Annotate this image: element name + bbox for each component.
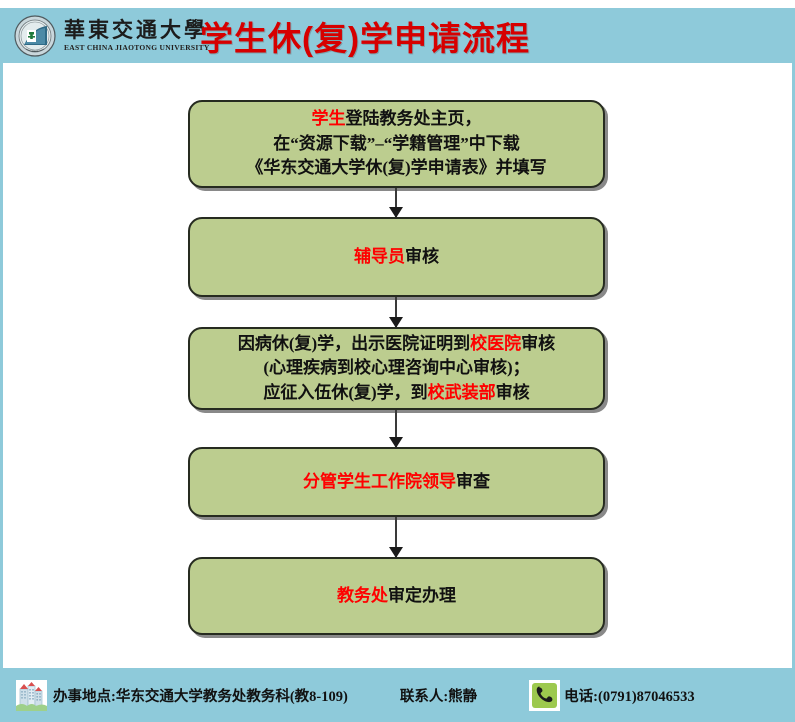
flow-node-2: 辅导员审核 xyxy=(188,217,605,297)
flow-node-4-line-1: 分管学生工作院领导审查 xyxy=(303,470,490,495)
plain-term: 审核 xyxy=(405,247,439,266)
footer-place-group: 办事地点:华东交通大学教务处教务科(教8-109) xyxy=(16,680,348,711)
flow-node-4-text: 分管学生工作院领导审查 xyxy=(295,470,498,495)
flow-node-2-line-1: 辅导员审核 xyxy=(354,245,439,270)
plain-term: 《华东交通大学休(复)学申请表》并填写 xyxy=(246,158,546,177)
flowchart-page: 1971 華東交通大學 EAST CHINA JIAOTONG UNIVERSI… xyxy=(0,0,795,722)
plain-term: 登陆教务处主页， xyxy=(345,109,481,128)
telephone-icon xyxy=(529,680,560,711)
flow-node-5-text: 教务处审定办理 xyxy=(329,584,464,609)
flow-node-1-line-1: 学生登陆教务处主页， xyxy=(246,107,546,132)
flow-node-5: 教务处审定办理 xyxy=(188,557,605,635)
university-logo: 1971 華東交通大學 EAST CHINA JIAOTONG UNIVERSI… xyxy=(14,15,210,57)
flow-node-3-line-1: 因病休(复)学，出示医院证明到校医院审核 xyxy=(238,332,555,357)
highlighted-term: 学生 xyxy=(311,109,345,128)
flow-node-3-line-2: (心理疾病到校心理咨询中心审核)； xyxy=(238,356,555,381)
plain-term: 在“资源下载”–“学籍管理”中下载 xyxy=(273,134,520,153)
office-building-icon xyxy=(16,680,47,711)
highlighted-term: 校医院 xyxy=(470,334,521,353)
flow-connector-1 xyxy=(395,188,397,217)
plain-term: 审核 xyxy=(496,383,530,402)
footer-phone-group: 电话:(0791)87046533 xyxy=(529,680,695,711)
highlighted-term: 教务处 xyxy=(337,586,388,605)
highlighted-term: 辅导员 xyxy=(354,247,405,266)
highlighted-term: 校武装部 xyxy=(428,383,496,402)
plain-term: 审查 xyxy=(456,472,490,491)
flow-node-5-line-1: 教务处审定办理 xyxy=(337,584,456,609)
flow-node-1-line-2: 在“资源下载”–“学籍管理”中下载 xyxy=(246,132,546,157)
flow-node-1-text: 学生登陆教务处主页，在“资源下载”–“学籍管理”中下载《华东交通大学休(复)学申… xyxy=(238,107,554,181)
university-crest-icon: 1971 xyxy=(14,15,56,57)
plain-term: (心理疾病到校心理咨询中心审核)； xyxy=(263,358,529,377)
page-footer: 办事地点:华东交通大学教务处教务科(教8-109) 联系人:熊静 电话:(079… xyxy=(0,668,795,722)
flow-node-3-text: 因病休(复)学，出示医院证明到校医院审核(心理疾病到校心理咨询中心审核)；应征入… xyxy=(230,332,563,406)
flowchart-body: 学生登陆教务处主页，在“资源下载”–“学籍管理”中下载《华东交通大学休(复)学申… xyxy=(0,63,795,668)
flow-node-3-line-3: 应征入伍休(复)学，到校武装部审核 xyxy=(238,381,555,406)
university-name-en: EAST CHINA JIAOTONG UNIVERSITY xyxy=(64,43,210,52)
page-header: 1971 華東交通大學 EAST CHINA JIAOTONG UNIVERSI… xyxy=(0,8,795,63)
flow-node-4: 分管学生工作院领导审查 xyxy=(188,447,605,517)
plain-term: 审核 xyxy=(521,334,555,353)
flow-connector-4 xyxy=(395,517,397,557)
footer-contact-person: 联系人:熊静 xyxy=(400,685,477,706)
flow-node-1: 学生登陆教务处主页，在“资源下载”–“学籍管理”中下载《华东交通大学休(复)学申… xyxy=(188,100,605,188)
university-name: 華東交通大學 EAST CHINA JIAOTONG UNIVERSITY xyxy=(64,19,210,52)
plain-term: 审定办理 xyxy=(388,586,456,605)
flow-connector-2 xyxy=(395,297,397,327)
flow-node-3: 因病休(复)学，出示医院证明到校医院审核(心理疾病到校心理咨询中心审核)；应征入… xyxy=(188,327,605,410)
svg-text:1971: 1971 xyxy=(32,49,39,53)
plain-term: 应征入伍休(复)学，到 xyxy=(263,383,427,402)
flow-node-1-line-3: 《华东交通大学休(复)学申请表》并填写 xyxy=(246,156,546,181)
highlighted-term: 分管学生工作院领导 xyxy=(303,472,456,491)
page-title: 学生休(复)学申请流程 xyxy=(200,12,530,60)
plain-term: 因病休(复)学，出示医院证明到 xyxy=(238,334,470,353)
footer-place-text: 办事地点:华东交通大学教务处教务科(教8-109) xyxy=(53,685,348,706)
flow-connector-3 xyxy=(395,410,397,447)
flow-node-2-text: 辅导员审核 xyxy=(346,245,447,270)
footer-phone-text: 电话:(0791)87046533 xyxy=(564,685,695,706)
university-name-cn: 華東交通大學 xyxy=(64,19,210,41)
